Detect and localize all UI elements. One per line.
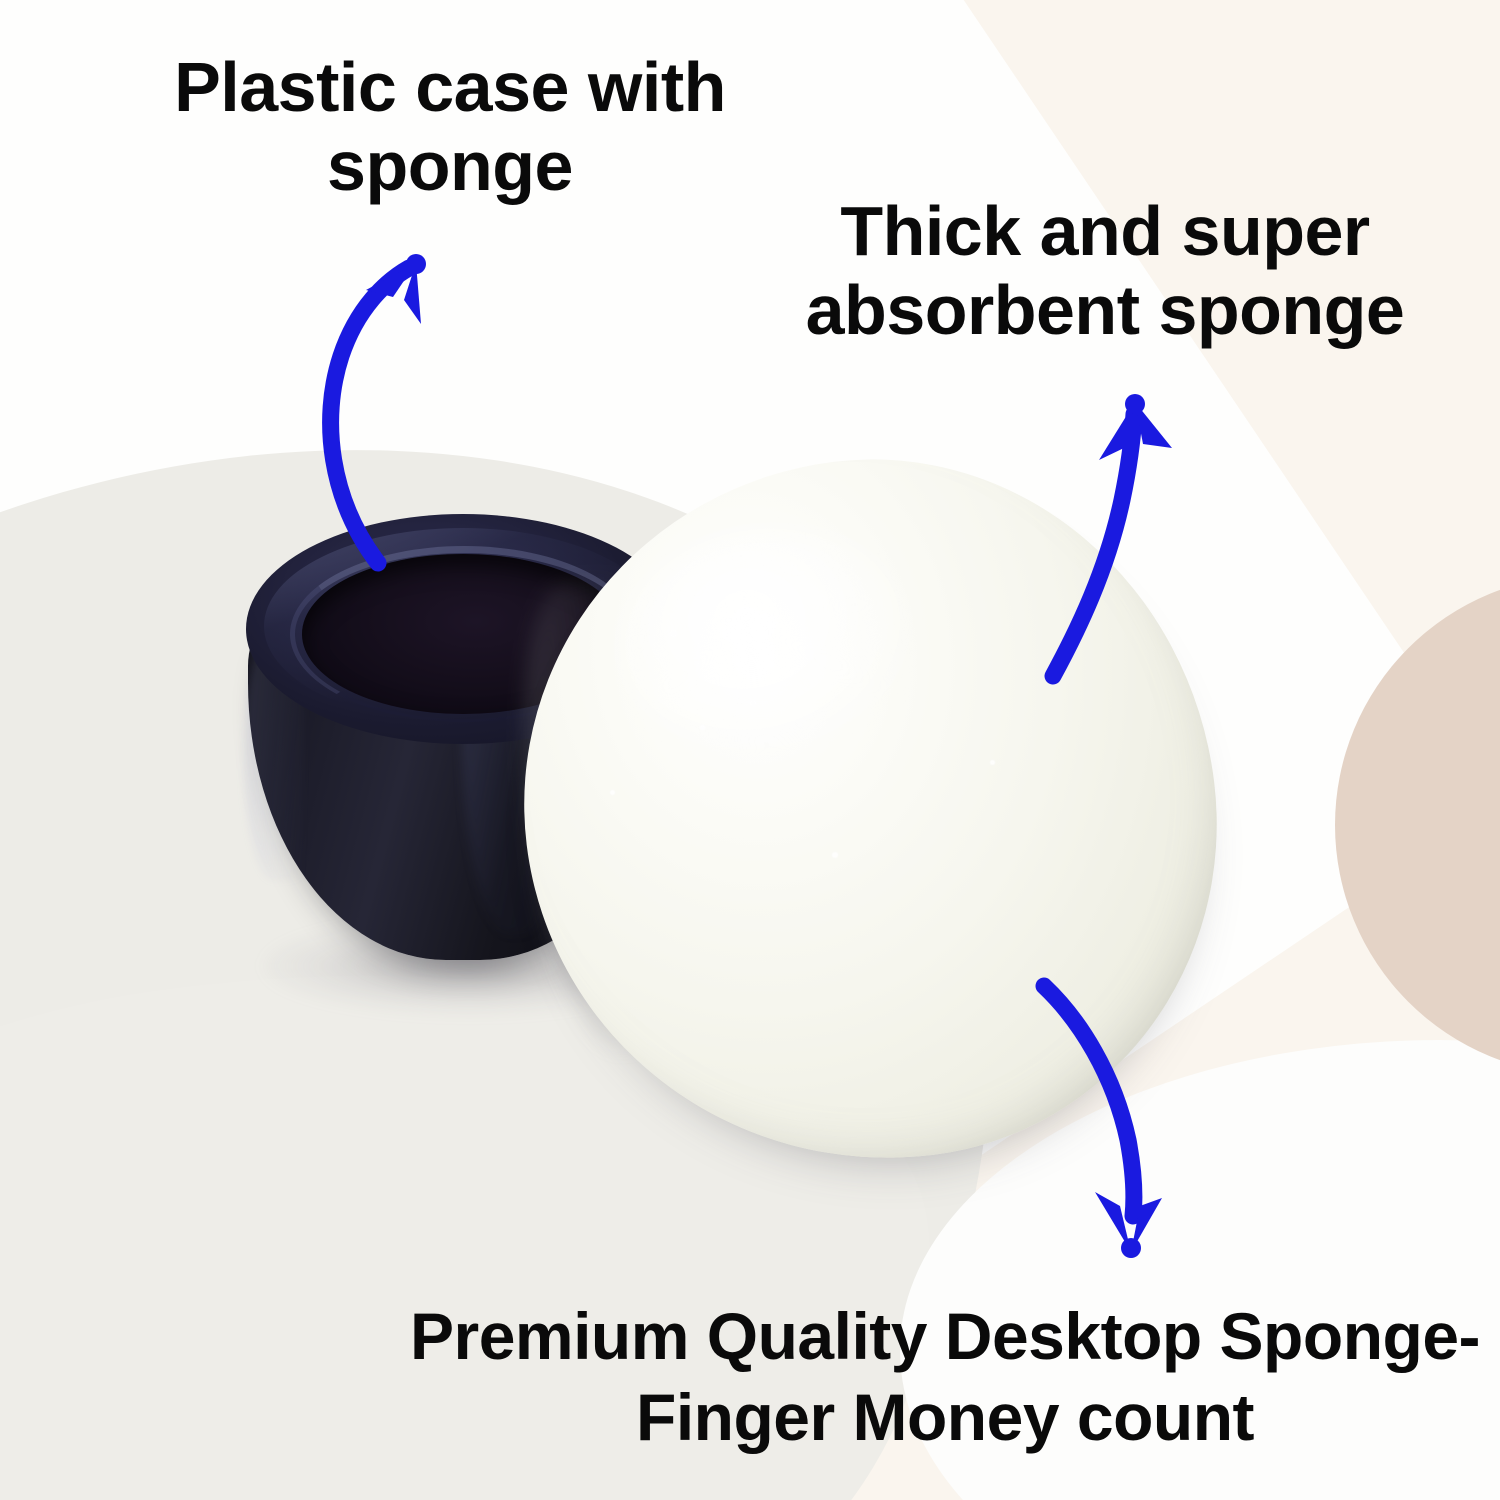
sponge-speck bbox=[990, 760, 995, 765]
sponge-speck bbox=[832, 852, 838, 858]
sponge-speck bbox=[670, 630, 677, 637]
label-absorbent-sponge: Thick and super absorbent sponge bbox=[740, 192, 1470, 350]
product-photo bbox=[230, 460, 1240, 1080]
infographic-canvas: Plastic case with sponge Thick and super… bbox=[0, 0, 1500, 1500]
sponge-speck bbox=[750, 700, 756, 706]
label-plastic-case: Plastic case with sponge bbox=[90, 48, 810, 206]
sponge-speck bbox=[700, 725, 705, 730]
sponge-speck bbox=[610, 790, 615, 795]
product-caption: Premium Quality Desktop Sponge- Finger M… bbox=[400, 1296, 1490, 1457]
